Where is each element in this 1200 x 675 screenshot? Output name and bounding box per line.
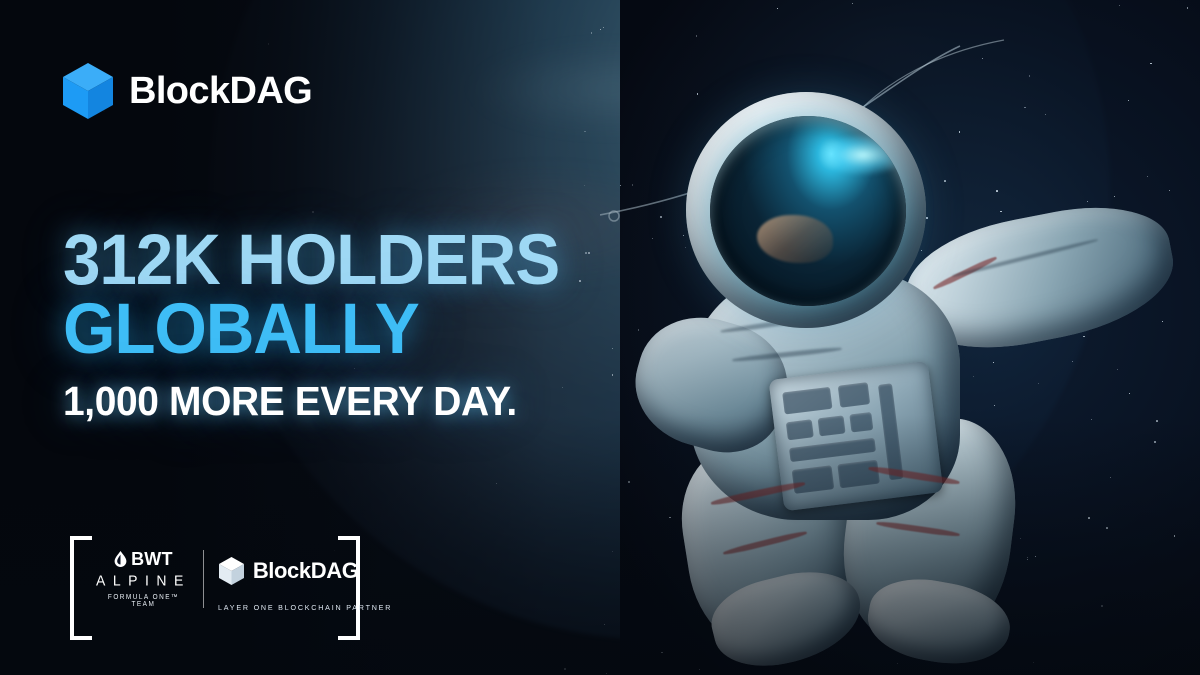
partner-lockup: BWT ALPINE FORMULA ONE™ TEAM BlockDAG LA… bbox=[70, 536, 360, 640]
alpine-wordmark: ALPINE bbox=[96, 573, 191, 588]
partner-divider bbox=[203, 550, 204, 608]
blockdag-cube-icon bbox=[218, 556, 245, 586]
headline-line-2: GLOBALLY bbox=[63, 297, 671, 362]
bwt-droplet-icon bbox=[114, 551, 127, 567]
banner-canvas: BlockDAG 312K HOLDERS GLOBALLY 1,000 MOR… bbox=[0, 0, 1200, 675]
headline-line-1: 312K HOLDERS bbox=[63, 228, 671, 293]
headline-block: 312K HOLDERS GLOBALLY 1,000 MORE EVERY D… bbox=[63, 228, 703, 422]
formula-one-team-label: FORMULA ONE™ TEAM bbox=[100, 594, 187, 608]
bwt-alpine-logo: BWT ALPINE FORMULA ONE™ TEAM bbox=[96, 536, 191, 608]
blockdag-partner-logo: BlockDAG LAYER ONE BLOCKCHAIN PARTNER bbox=[218, 536, 403, 612]
brand-wordmark: BlockDAG bbox=[129, 70, 312, 113]
bracket-left-icon bbox=[70, 536, 92, 640]
headline-subline: 1,000 MORE EVERY DAY. bbox=[63, 381, 671, 422]
bwt-wordmark: BWT bbox=[131, 550, 173, 568]
blockdag-cube-icon bbox=[62, 62, 114, 120]
blockchain-partner-label: LAYER ONE BLOCKCHAIN PARTNER bbox=[218, 604, 392, 612]
blockdag-partner-wordmark: BlockDAG bbox=[253, 560, 359, 582]
brand-logo[interactable]: BlockDAG bbox=[62, 62, 312, 120]
